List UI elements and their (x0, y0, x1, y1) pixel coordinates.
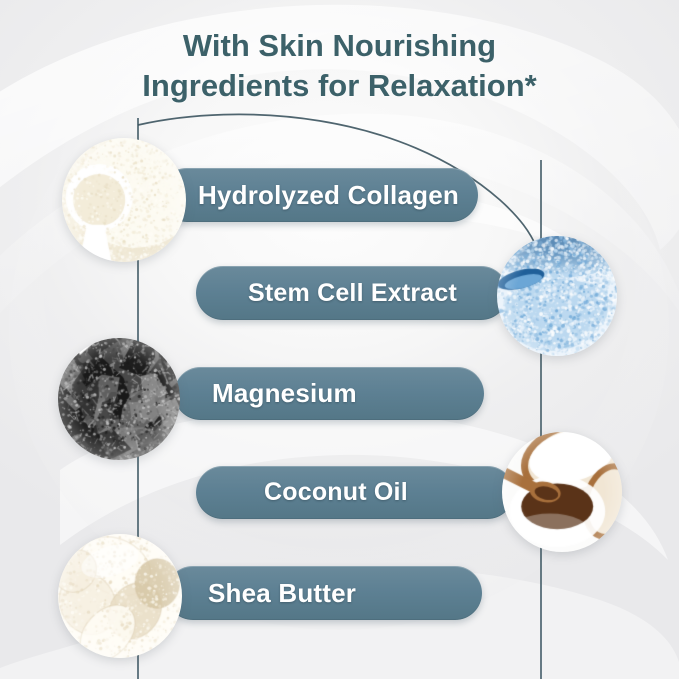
magnesium-mineral-chunks-image (58, 338, 180, 460)
shea-butter-chunks-image (58, 534, 182, 658)
ingredient-pill-coconut-oil[interactable]: Coconut Oil (196, 466, 514, 519)
ingredient-label: Hydrolyzed Collagen (198, 180, 459, 211)
title-line-2: Ingredients for Relaxation* (0, 66, 679, 106)
ingredient-label: Coconut Oil (264, 478, 408, 507)
ingredient-infographic: With Skin Nourishing Ingredients for Rel… (0, 0, 679, 679)
coconut-oil-bowl-spoon-image (502, 432, 622, 552)
ingredient-pill-shea-butter[interactable]: Shea Butter (166, 566, 482, 620)
page-title: With Skin Nourishing Ingredients for Rel… (0, 26, 679, 107)
ingredient-pill-hydrolyzed-collagen[interactable]: Hydrolyzed Collagen (160, 168, 478, 222)
ingredient-pill-magnesium[interactable]: Magnesium (174, 367, 484, 420)
collagen-powder-scoop-image (62, 138, 186, 262)
ingredient-label: Shea Butter (208, 578, 356, 609)
ingredient-pill-stem-cell-extract[interactable]: Stem Cell Extract (196, 266, 508, 320)
ingredient-label: Stem Cell Extract (248, 279, 457, 308)
ingredient-label: Magnesium (212, 378, 357, 409)
title-line-1: With Skin Nourishing (183, 28, 496, 63)
stem-cell-extract-powder-image (497, 236, 617, 356)
